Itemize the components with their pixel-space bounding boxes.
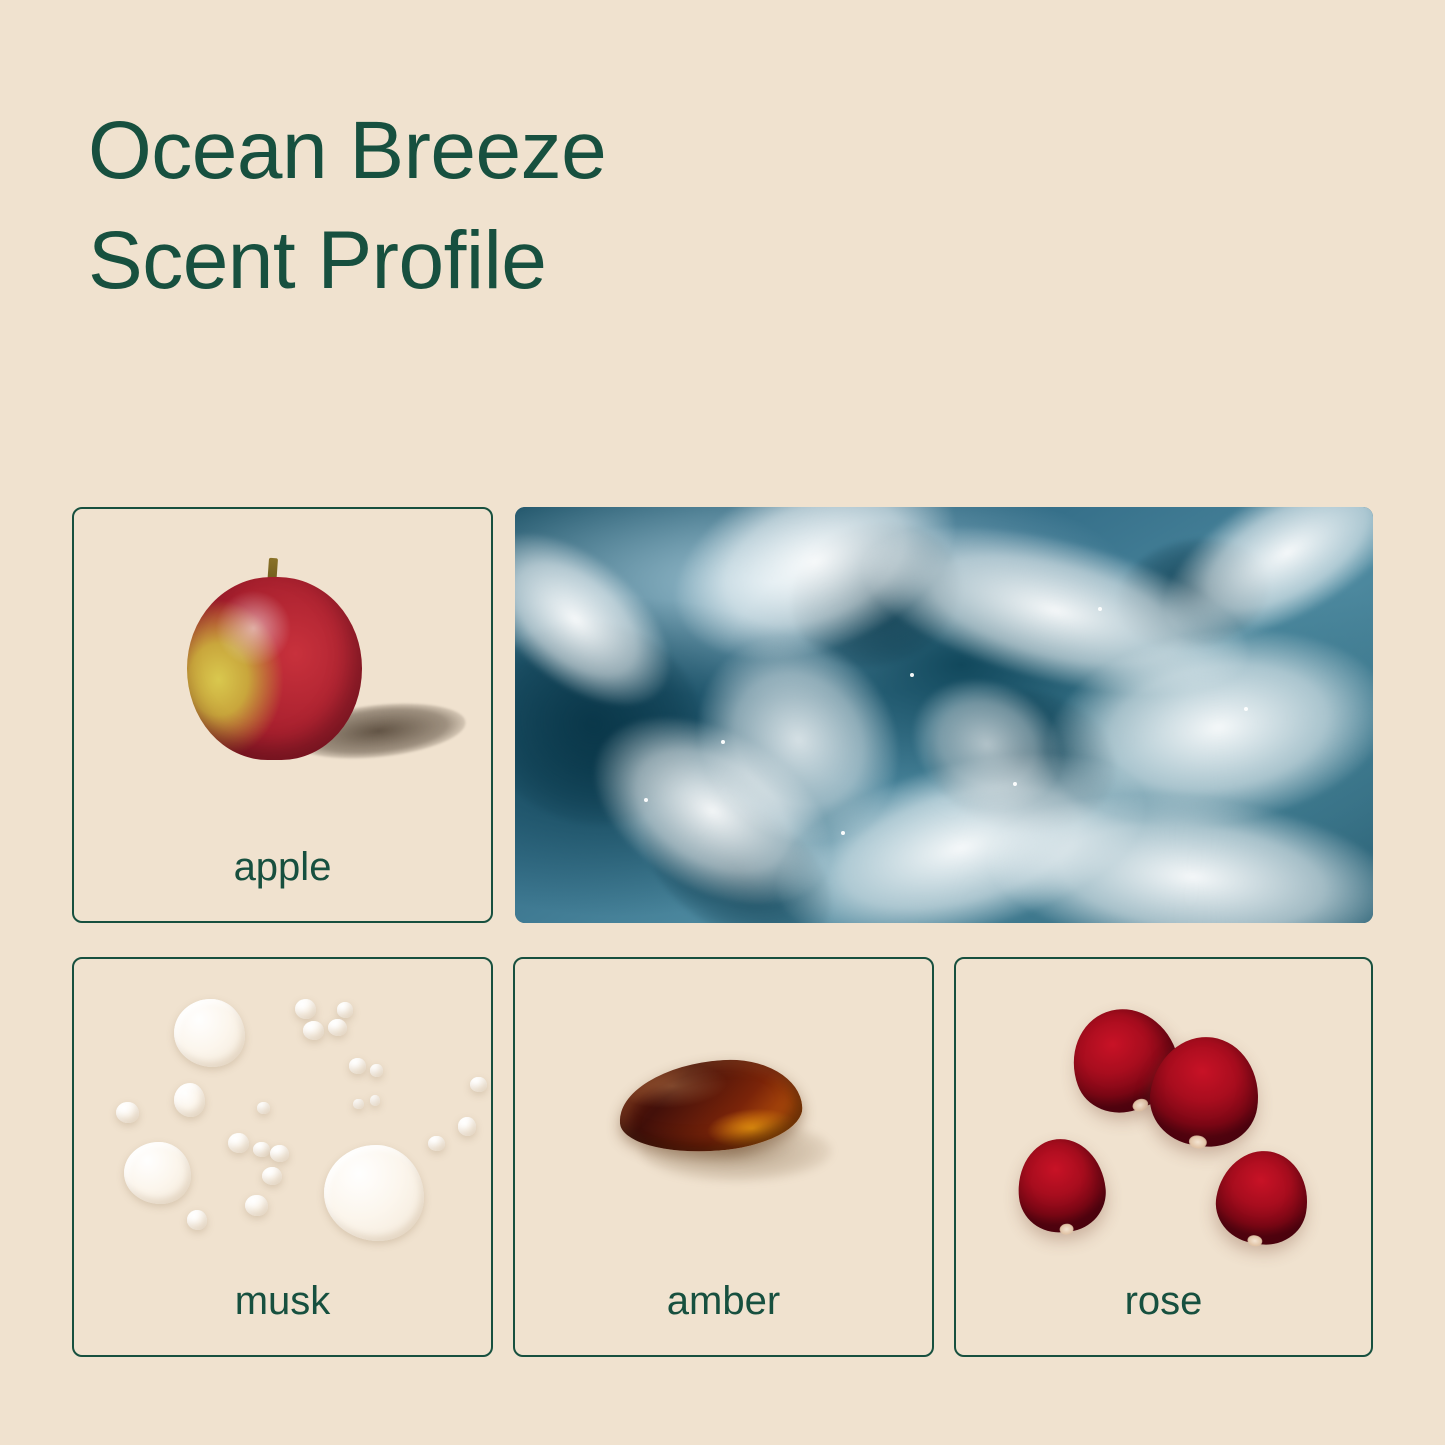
gel-droplet (328, 1019, 347, 1036)
scent-note-label-musk: musk (74, 1281, 491, 1321)
gel-droplet (262, 1167, 283, 1186)
page-title: Ocean Breeze Scent Profile (88, 96, 988, 316)
scent-note-label-apple: apple (74, 847, 491, 887)
gel-droplet (257, 1102, 270, 1114)
water-sparkle (721, 740, 725, 744)
gel-droplet (174, 999, 245, 1067)
water-sparkle (1244, 707, 1248, 711)
gel-droplet (124, 1142, 191, 1204)
gel-droplet (353, 1099, 363, 1110)
gel-droplet (174, 1083, 205, 1117)
gel-droplet (245, 1195, 268, 1217)
apple-illustration (74, 509, 491, 835)
gel-droplet (295, 999, 316, 1019)
gel-droplet (187, 1210, 208, 1230)
rose-petals-illustration (956, 959, 1371, 1269)
gel-droplet (253, 1142, 270, 1158)
gel-droplet (349, 1058, 366, 1074)
water-sparkle (644, 798, 648, 802)
ocean-wave-image[interactable] (515, 507, 1373, 923)
scent-note-card-musk[interactable]: musk (72, 957, 493, 1357)
apple-body (187, 577, 362, 760)
gel-droplet (428, 1136, 445, 1152)
musk-droplets-illustration (74, 959, 491, 1269)
amber-image (515, 959, 932, 1269)
rose-petal (1014, 1134, 1110, 1236)
gel-droplet (228, 1133, 249, 1153)
gel-droplet (270, 1145, 289, 1162)
gel-droplet (116, 1102, 139, 1124)
rose-petal (1210, 1144, 1316, 1251)
water-sparkle (1013, 782, 1017, 786)
scent-note-card-amber[interactable]: amber (513, 957, 934, 1357)
gel-droplet (337, 1002, 354, 1018)
scent-note-label-amber: amber (515, 1281, 932, 1321)
apple-image (74, 509, 491, 835)
gel-droplet (324, 1145, 424, 1241)
gel-droplet (458, 1117, 477, 1136)
scent-note-card-rose[interactable]: rose (954, 957, 1373, 1357)
scent-note-card-apple[interactable]: apple (72, 507, 493, 923)
scent-note-grid: apple (72, 507, 1373, 1357)
gel-droplet (470, 1077, 487, 1093)
musk-image (74, 959, 491, 1269)
gel-droplet (303, 1021, 324, 1040)
scent-note-label-rose: rose (956, 1281, 1371, 1321)
gel-droplet (370, 1095, 380, 1106)
rose-image (956, 959, 1371, 1269)
amber-stone-illustration (515, 959, 932, 1269)
gel-droplet (370, 1064, 383, 1076)
